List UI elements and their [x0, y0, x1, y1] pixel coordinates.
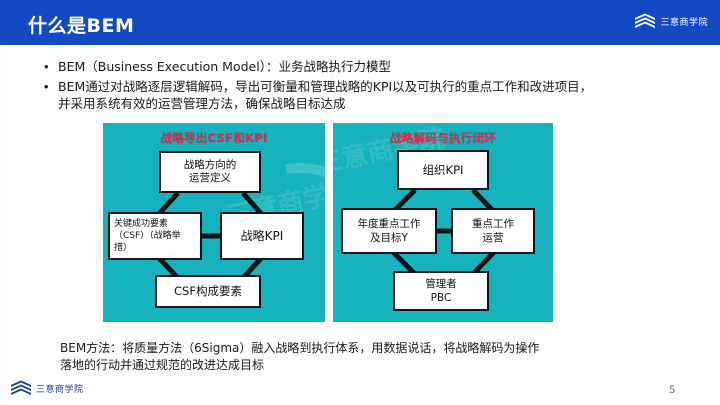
footer-logo-text: 三意商学院	[36, 382, 84, 395]
slide-header: 什么是BEM 三意商学院	[0, 0, 720, 45]
diagram-panel-left: 三意商学院 战略导出CSF和KPI 战略方向的 运营定义 关键成功要素 （CSF…	[103, 123, 325, 322]
bullet-marker: •	[44, 78, 58, 96]
node-line: CSF构成要素	[174, 285, 242, 298]
node-line: 组织KPI	[423, 164, 464, 177]
node-line: 运营定义	[189, 172, 231, 185]
diagram-panel-right: 三意商学院 战略解码与执行闭环 组织KPI 年度重点工作 及目标Y 重点	[333, 123, 553, 322]
node-csf: 关键成功要素 （CSF）（战略举 措）	[108, 212, 202, 260]
node-line: （CSF）（战略举	[114, 230, 181, 242]
page-number: 5	[669, 382, 675, 397]
list-item: • BEM（Business Execution Model）：业务战略执行力模…	[44, 58, 694, 76]
node-csf-elements: CSF构成要素	[155, 275, 261, 308]
node-line: 年度重点工作	[358, 217, 421, 231]
note-line: 落地的行动并通过规范的改进达成目标	[60, 357, 680, 374]
node-line: 及目标Y	[370, 231, 408, 245]
node-org-kpi: 组织KPI	[397, 150, 489, 190]
node-line: 战略方向的	[184, 159, 237, 172]
header-logo-text: 三意商学院	[660, 15, 708, 28]
bullet-line: BEM（Business Execution Model）：业务战略执行力模型	[58, 59, 391, 74]
note-line: BEM方法：将质量方法（6Sigma）融入战略到执行体系，用数据说话，将战略解码…	[60, 340, 680, 357]
header-brand-logo: 三意商学院	[634, 13, 708, 30]
node-key-work-operation: 重点工作 运营	[451, 208, 535, 254]
node-strategy-kpi: 战略KPI	[220, 212, 304, 260]
page-title: 什么是BEM	[28, 11, 134, 38]
bullet-line: 并采用系统有效的运营管理方法，确保战略目标达成	[58, 95, 592, 112]
bem-method-note: BEM方法：将质量方法（6Sigma）融入战略到执行体系，用数据说话，将战略解码…	[60, 340, 680, 374]
bullet-marker: •	[44, 58, 58, 76]
footer-brand-logo: 三意商学院	[10, 380, 84, 397]
node-annual-key-work: 年度重点工作 及目标Y	[341, 208, 437, 254]
node-line: 重点工作	[472, 217, 514, 231]
node-manager-pbc: 管理者 PBC	[393, 271, 489, 311]
bullet-line: BEM通过对战略逐层逻辑解码，导出可衡量和管理战略的KPI以及可执行的重点工作和…	[58, 78, 592, 95]
node-line: 关键成功要素	[114, 218, 168, 230]
slide-canvas: 什么是BEM 三意商学院 • BEM（Business Execution Mo…	[0, 0, 720, 405]
node-line: 措）	[114, 242, 132, 254]
node-line: 管理者	[425, 277, 457, 291]
list-item: • BEM通过对战略逐层逻辑解码，导出可衡量和管理战略的KPI以及可执行的重点工…	[44, 78, 694, 112]
node-line: 运营	[483, 231, 504, 245]
bullet-text: BEM通过对战略逐层逻辑解码，导出可衡量和管理战略的KPI以及可执行的重点工作和…	[58, 78, 592, 112]
triple-wave-logo-icon	[10, 380, 32, 397]
triple-wave-logo-icon	[634, 13, 656, 30]
bullet-list: • BEM（Business Execution Model）：业务战略执行力模…	[44, 58, 694, 114]
node-line: PBC	[431, 291, 452, 305]
node-line: 战略KPI	[241, 230, 284, 243]
node-strategy-direction: 战略方向的 运营定义	[159, 151, 261, 193]
bullet-text: BEM（Business Execution Model）：业务战略执行力模型	[58, 58, 391, 75]
left-edge-strip	[0, 45, 5, 405]
bem-diagram: 三意商学院 战略导出CSF和KPI 战略方向的 运营定义 关键成功要素 （CSF…	[103, 123, 553, 322]
